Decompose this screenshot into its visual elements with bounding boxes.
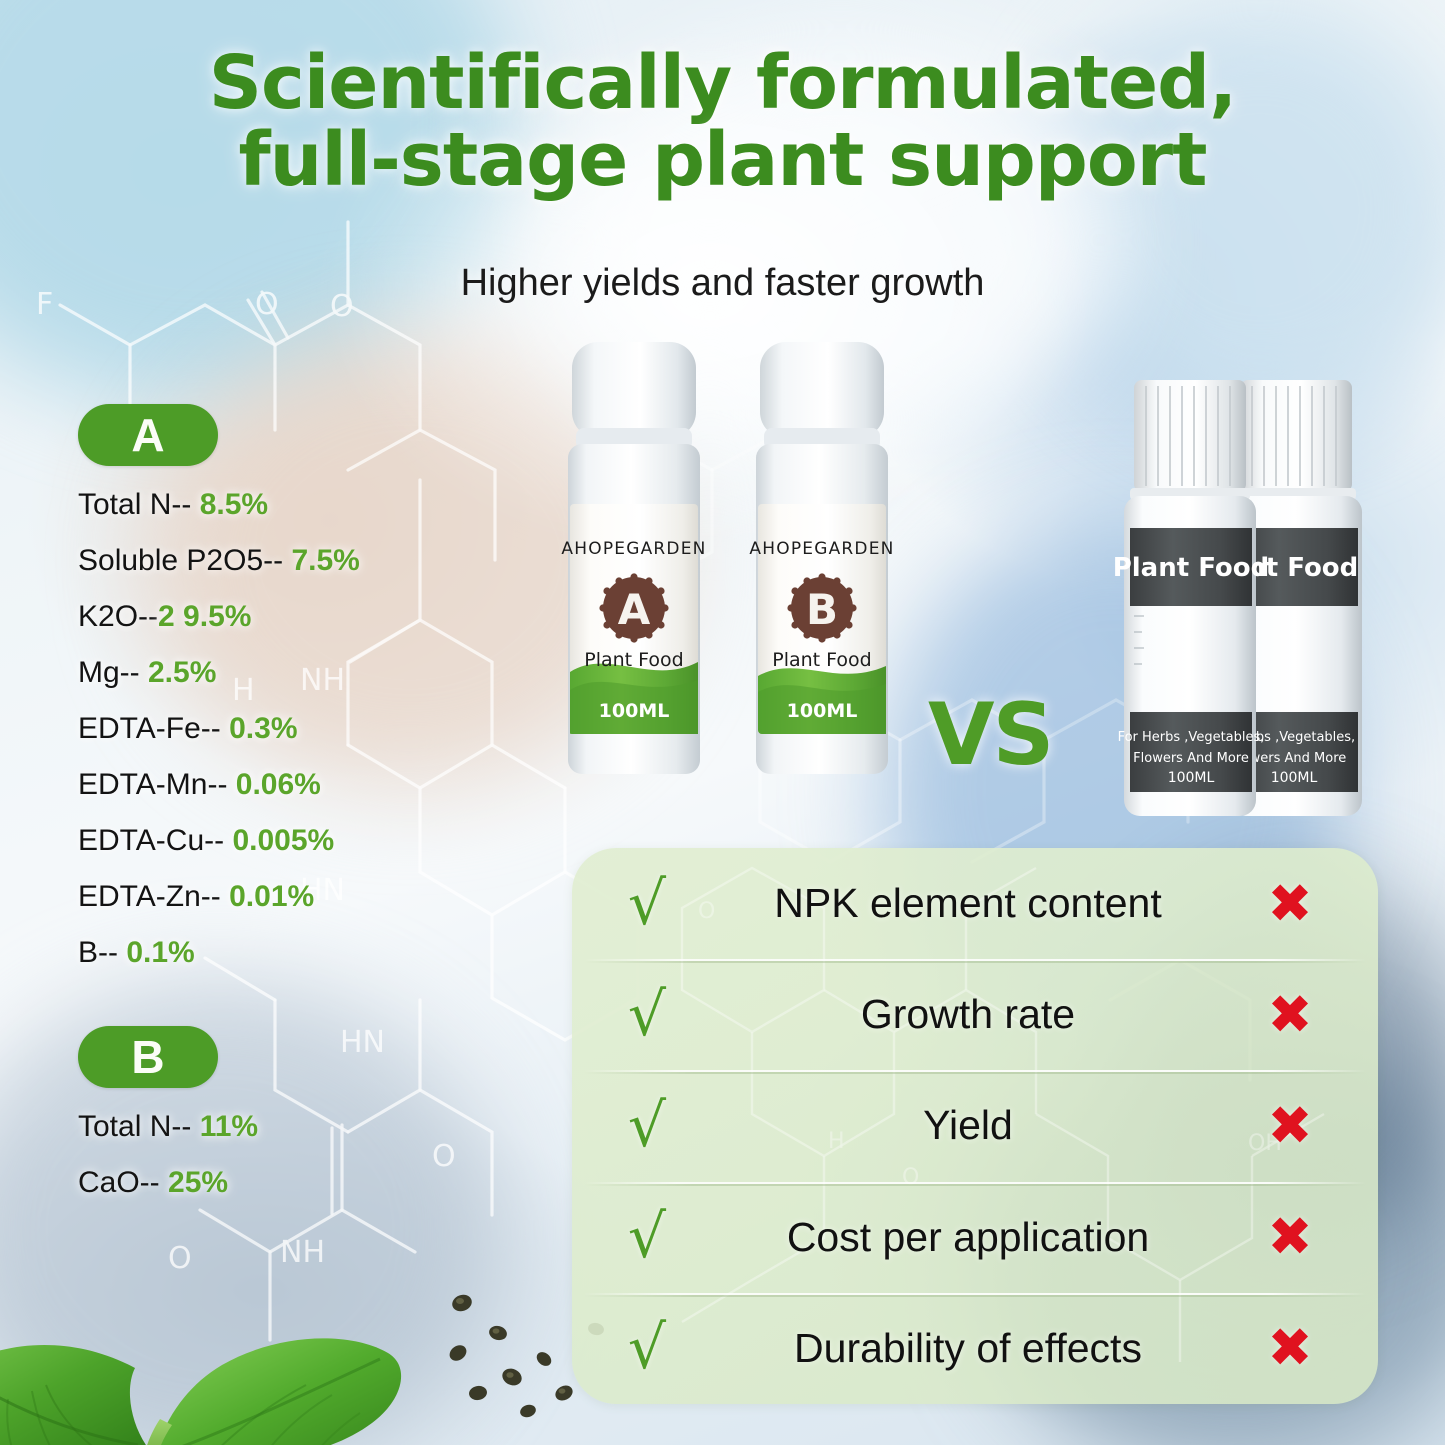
nutrient-value: 11% — [200, 1110, 258, 1143]
competitor-volume: 100ML — [1271, 770, 1318, 786]
brand-name: AHOPEGARDEN — [561, 539, 706, 559]
promo-banner: F O O NH H HN HN O O NH — [0, 0, 1445, 1445]
comparison-label: Growth rate — [676, 991, 1260, 1038]
cross-icon: ✖ — [1260, 1321, 1320, 1375]
comparison-table: H O OH O √ NPK element content ✖ √ Growt… — [572, 848, 1378, 1404]
nutrient-label: K2O-- — [78, 600, 158, 633]
comparison-row: √ Cost per application ✖ — [572, 1182, 1378, 1293]
comparison-row: √ NPK element content ✖ — [572, 848, 1378, 959]
nutrient-row: CaO-- 25% — [78, 1166, 258, 1200]
nutrient-row: EDTA-Mn-- 0.06% — [78, 768, 360, 802]
nutrient-value: 0.1% — [126, 936, 194, 969]
nutrient-label: Soluble P2O5-- — [78, 544, 283, 577]
nutrient-value: 0.005% — [232, 824, 334, 857]
nutrient-value: 8.5% — [200, 488, 268, 521]
nutrient-label: EDTA-Fe-- — [78, 712, 221, 745]
nutrient-label: EDTA-Zn-- — [78, 880, 221, 913]
brand-name: AHOPEGARDEN — [749, 539, 894, 559]
competitor-volume: 100ML — [1168, 770, 1215, 786]
nutrient-label: EDTA-Cu-- — [78, 824, 224, 857]
bottle-volume: 100ML — [787, 700, 858, 722]
nutrient-row: K2O--2 9.5% — [78, 600, 360, 634]
nutrient-row: Total N-- 11% — [78, 1110, 258, 1144]
nutrient-panel-a: A Total N-- 8.5% Soluble P2O5-- 7.5% K2O… — [78, 404, 360, 970]
competitor-desc-2: owers And More — [1242, 751, 1347, 766]
nutrient-label: Mg-- — [78, 656, 140, 689]
bottle-badge-b: B — [806, 585, 838, 634]
nutrient-label: CaO-- — [78, 1166, 160, 1199]
comparison-label: Cost per application — [676, 1214, 1260, 1261]
check-icon: √ — [618, 1318, 676, 1378]
check-icon: √ — [618, 874, 676, 934]
cross-icon: ✖ — [1260, 877, 1320, 931]
bottle-volume: 100ML — [599, 700, 670, 722]
nutrient-row: EDTA-Cu-- 0.005% — [78, 824, 360, 858]
comparison-row: √ Durability of effects ✖ — [572, 1293, 1378, 1404]
product-bottles-ours: AHOPEGARDEN B Plant Food 100ML AHOPEGARD… — [560, 336, 950, 836]
comparison-row: √ Yield ✖ — [572, 1070, 1378, 1181]
headline-line-2: full-stage plant support — [0, 125, 1445, 196]
bottle-product-name: Plant Food — [772, 649, 871, 671]
nutrient-row: Soluble P2O5-- 7.5% — [78, 544, 360, 578]
competitor-title: Plant Food — [1113, 553, 1270, 583]
comparison-label: NPK element content — [676, 880, 1260, 927]
comparison-row: √ Growth rate ✖ — [572, 959, 1378, 1070]
badge-b: B — [78, 1026, 218, 1088]
nutrient-label: Total N-- — [78, 488, 191, 521]
comparison-label: Durability of effects — [676, 1325, 1260, 1372]
nutrient-row: B-- 0.1% — [78, 936, 360, 970]
cross-icon: ✖ — [1260, 1210, 1320, 1264]
nutrient-value: 0.06% — [236, 768, 321, 801]
page-title: Scientifically formulated, full-stage pl… — [0, 48, 1445, 196]
cross-icon: ✖ — [1260, 988, 1320, 1042]
nutrient-label: EDTA-Mn-- — [78, 768, 227, 801]
headline-line-1: Scientifically formulated, — [209, 40, 1237, 126]
nutrient-label: B-- — [78, 936, 118, 969]
nutrient-value: 0.01% — [229, 880, 314, 913]
check-icon: √ — [618, 1096, 676, 1156]
nutrient-value: 9.5% — [183, 600, 251, 633]
nutrient-value: 7.5% — [291, 544, 359, 577]
nutrient-value: 0.3% — [229, 712, 297, 745]
nutrient-row: EDTA-Zn-- 0.01% — [78, 880, 360, 914]
badge-a: A — [78, 404, 218, 466]
nutrient-row: Mg-- 2.5% — [78, 656, 360, 690]
check-icon: √ — [618, 1207, 676, 1267]
page-subtitle: Higher yields and faster growth — [0, 262, 1445, 305]
nutrient-panel-b: B Total N-- 11% CaO-- 25% — [78, 1026, 258, 1200]
product-bottles-competitor: ant Food Herbs ,Vegetables, owers And Mo… — [1098, 376, 1388, 836]
nutrient-value: 2.5% — [148, 656, 216, 689]
nutrient-row: EDTA-Fe-- 0.3% — [78, 712, 360, 746]
nutrient-prefix: 2 — [158, 600, 175, 633]
comparison-label: Yield — [676, 1102, 1260, 1149]
nutrient-value: 25% — [168, 1166, 228, 1199]
competitor-desc-1: For Herbs ,Vegetables, — [1118, 730, 1265, 745]
nutrient-label: Total N-- — [78, 1110, 191, 1143]
cross-icon: ✖ — [1260, 1099, 1320, 1153]
check-icon: √ — [618, 985, 676, 1045]
vs-label: VS — [928, 685, 1053, 785]
bottle-product-name: Plant Food — [584, 649, 683, 671]
competitor-desc-2: Flowers And More — [1133, 751, 1249, 766]
bottle-badge-a: A — [618, 585, 651, 634]
nutrient-row: Total N-- 8.5% — [78, 488, 360, 522]
